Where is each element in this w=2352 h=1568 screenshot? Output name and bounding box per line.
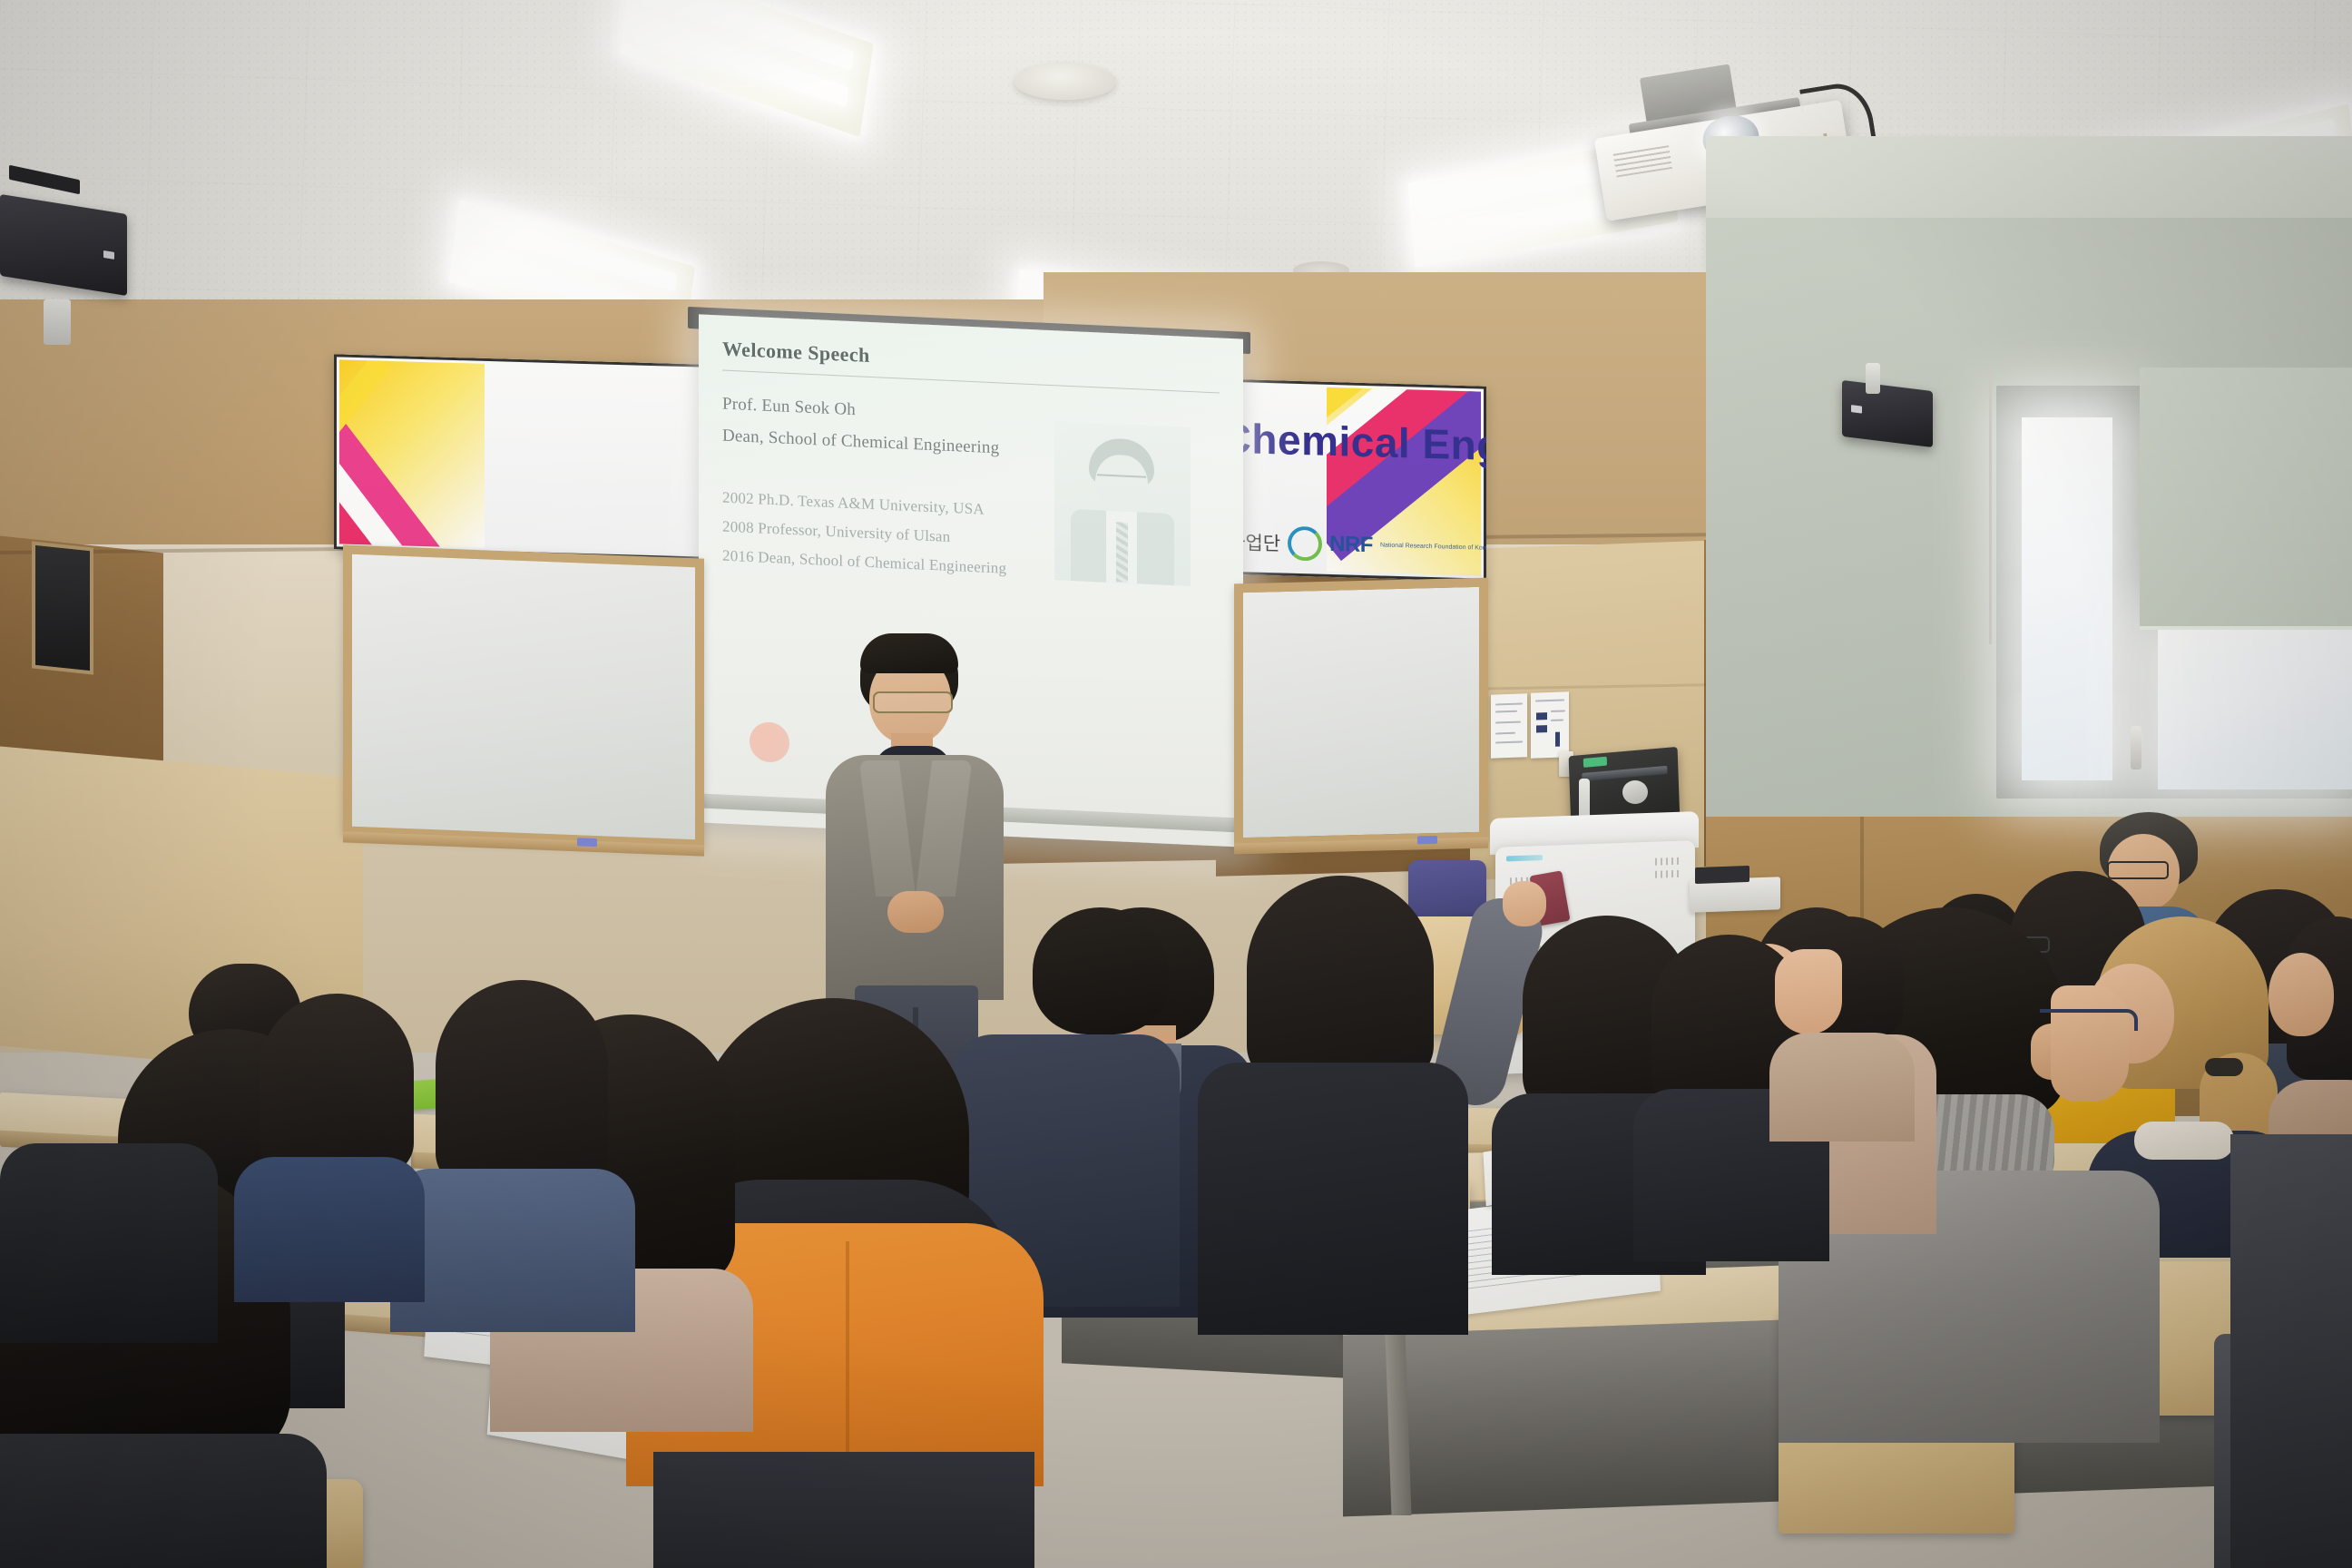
podium-accent-strip — [1506, 855, 1543, 861]
slide-heading: Welcome Speech — [722, 338, 1220, 384]
attendee-jacket-seam — [846, 1241, 849, 1485]
attendee-hair — [1033, 907, 1169, 1034]
ceiling-speaker-left-arm — [44, 299, 71, 345]
slide-decor-circle — [750, 721, 789, 763]
attendee-navy-left — [234, 994, 434, 1266]
wall-speaker-right-bracket — [1866, 363, 1880, 394]
attendee-hair-tie — [2205, 1058, 2243, 1076]
nrf-full-name: National Research Foundation of Korea — [1380, 542, 1486, 552]
presenter-hair-front — [860, 633, 958, 673]
attendee-hand — [1503, 881, 1546, 926]
whiteboard-right-marker[interactable] — [1417, 836, 1437, 845]
attendee-torso — [0, 1143, 218, 1343]
attendee-far-right-edge — [2269, 916, 2352, 1152]
smoke-detector-icon — [1014, 64, 1116, 100]
wall-recess-panel — [32, 541, 93, 674]
banner-artwork-left — [339, 359, 485, 547]
attendee-foreground-right-edge — [2230, 1134, 2352, 1568]
attendee-torso — [1769, 1033, 1915, 1142]
window-handle[interactable] — [2131, 726, 2141, 769]
attendee-hair — [1247, 876, 1434, 1084]
whiteboard-right — [1234, 578, 1488, 848]
attendee-lower-body — [653, 1452, 1034, 1568]
whiteboard-left-marker[interactable] — [577, 838, 597, 847]
presenter-glasses-icon — [873, 691, 953, 713]
attendee-hair — [436, 980, 608, 1189]
wall-notice-1 — [1491, 693, 1527, 758]
attendee-face — [2269, 953, 2334, 1036]
attendee-glasses-icon — [2040, 1009, 2138, 1031]
podium-vent-right — [1655, 857, 1681, 866]
attendee-face — [1775, 949, 1842, 1034]
wall-notice-2 — [1531, 691, 1569, 758]
exterior-window-glass[interactable] — [2022, 417, 2112, 780]
wall-speaker-right — [1842, 380, 1933, 447]
whiteboard-left — [343, 544, 704, 848]
attendee-left-black-coat — [0, 1089, 218, 1325]
monitor-hinge — [1582, 766, 1667, 781]
attendee-torso — [1198, 1063, 1468, 1335]
attendee-black-coat-center — [1198, 876, 1470, 1302]
blind-pull-cord[interactable] — [1989, 372, 1992, 644]
portrait-tie — [1116, 522, 1128, 583]
nrf-abbr: NRF — [1329, 532, 1373, 558]
podium-vent-right-2 — [1655, 870, 1681, 878]
attendee-torso — [0, 1434, 327, 1568]
nrf-logo-icon — [1288, 526, 1322, 562]
attendee-side-profile-woman — [1769, 916, 1915, 1125]
attendee-torso — [234, 1157, 425, 1302]
exterior-window-glass-right[interactable] — [2158, 626, 2352, 789]
attendee-face-profile — [2051, 985, 2129, 1102]
monitor-label-sticker — [1583, 757, 1607, 768]
podium-equipment-dark — [1695, 866, 1749, 884]
attendee-torso — [2230, 1134, 2352, 1568]
window-roller-blind[interactable] — [2140, 367, 2352, 630]
lecture-hall-photo: 4th Joint Symposium on Chemical Engineer… — [0, 0, 2352, 1568]
slide-portrait-photo — [1054, 421, 1191, 586]
attendee-hair — [260, 994, 414, 1175]
podium-gooseneck — [1622, 780, 1648, 804]
presenter-hands — [887, 891, 944, 933]
